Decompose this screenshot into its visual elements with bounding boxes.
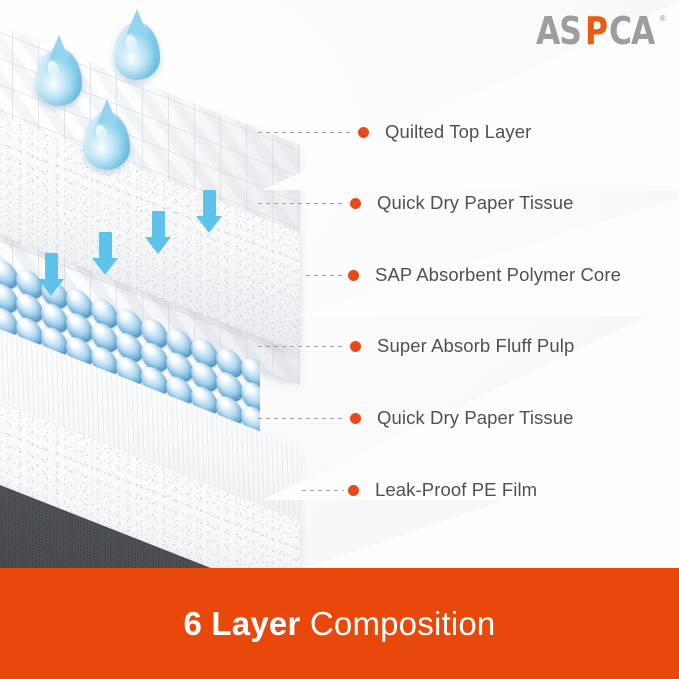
callout-dot-icon [350, 198, 361, 209]
callout-label: Quick Dry Paper Tissue [377, 407, 574, 429]
callout-super-absorb-fluff-pulp: Super Absorb Fluff Pulp [258, 334, 574, 358]
composition-banner: 6 Layer Composition [0, 568, 679, 679]
absorption-arrow-icon [196, 190, 222, 233]
callout-dot-icon [350, 413, 361, 424]
absorption-arrow-icon [92, 232, 118, 275]
leader-line [258, 132, 354, 133]
callout-dot-icon [358, 127, 369, 138]
callout-dot-icon [348, 270, 359, 281]
logo-text-as: AS [536, 12, 581, 50]
banner-headline-regular: Composition [310, 605, 496, 642]
callout-label: Super Absorb Fluff Pulp [377, 335, 574, 357]
callout-label: Quilted Top Layer [385, 121, 531, 143]
aspca-logo: AS P CA ® [536, 12, 666, 50]
absorption-arrow-icon [38, 253, 64, 296]
absorption-arrow-icon [145, 211, 171, 254]
callout-quick-dry-paper-tissue-top: Quick Dry Paper Tissue [258, 191, 574, 215]
callout-quilted-top-layer: Quilted Top Layer [258, 120, 531, 144]
product-infographic: AS P CA ® Quilted Top Layer Quick Dry Pa… [0, 0, 679, 679]
leader-line [258, 418, 346, 419]
callout-quick-dry-paper-tissue-bottom: Quick Dry Paper Tissue [258, 406, 574, 430]
leader-line [258, 203, 346, 204]
banner-headline-bold: 6 Layer [184, 605, 301, 642]
banner-headline: 6 Layer Composition [184, 605, 496, 643]
callout-label: Leak-Proof PE Film [375, 479, 537, 501]
logo-text-ca: CA [609, 12, 654, 50]
callout-label: Quick Dry Paper Tissue [377, 192, 574, 214]
callout-dot-icon [348, 485, 359, 496]
leader-line [258, 346, 346, 347]
callout-dot-icon [350, 341, 361, 352]
callout-label: SAP Absorbent Polymer Core [375, 264, 621, 286]
logo-text-p: P [585, 12, 607, 50]
leader-line [306, 275, 344, 276]
callout-leak-proof-pe-film: Leak-Proof PE Film [302, 478, 537, 502]
callout-sap-absorbent-polymer-core: SAP Absorbent Polymer Core [306, 263, 621, 287]
leader-line [302, 490, 344, 491]
registered-trademark-icon: ® [659, 14, 666, 24]
